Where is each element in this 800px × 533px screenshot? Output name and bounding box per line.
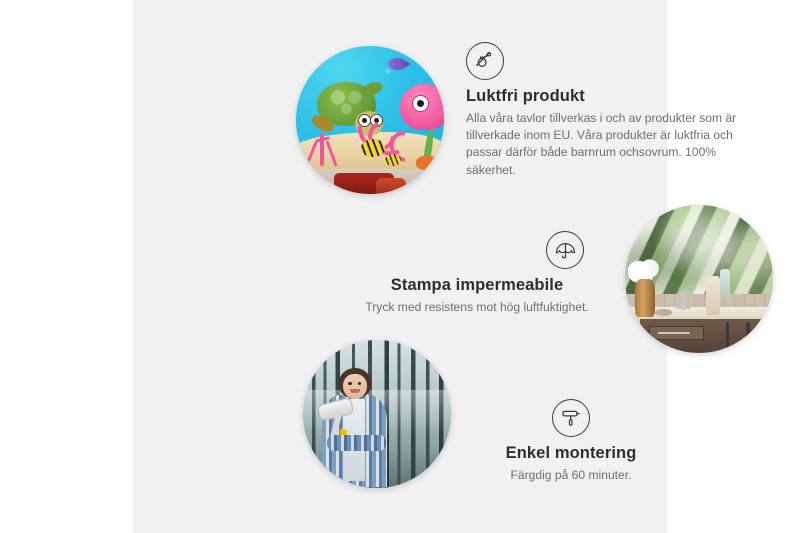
pink-coral [305, 129, 343, 170]
yellow-striped-fish [361, 139, 385, 157]
cabinet-handle [726, 322, 730, 347]
feature-body: Färgdig på 60 minuter. [456, 467, 686, 484]
toiletry-bottle [706, 276, 719, 314]
umbrella-icon [546, 231, 584, 269]
yellow-striped-fish-small [385, 154, 401, 166]
paint-roller-icon [552, 399, 590, 437]
feature-easy-mounting: Enkel montering Färgdig på 60 minuter. [456, 399, 686, 484]
infographic-canvas: Luktfri produkt Alla våra tavlor tillver… [0, 0, 800, 533]
feature-odorless: Luktfri produkt Alla våra tavlor tillver… [466, 42, 758, 179]
gold-vase [635, 279, 654, 317]
crossed-arms [327, 435, 386, 451]
face [343, 374, 367, 399]
faucet [681, 291, 685, 310]
feature-title: Enkel montering [456, 444, 686, 463]
no-perfume-icon [466, 42, 504, 80]
feature-body: Tryck med resistens mot hög luftfuktighe… [346, 299, 608, 316]
photo-bathroom-leaf-wallpaper [625, 205, 773, 353]
feature-title: Luktfri produkt [466, 87, 758, 106]
toiletry-bottle [720, 269, 730, 299]
soap-dish [655, 309, 673, 316]
cabinet-handle [746, 322, 750, 347]
purple-fish [388, 58, 407, 70]
photo-underwater-kids-mural [296, 46, 444, 194]
painter-scene [303, 340, 451, 488]
starfish [416, 156, 438, 171]
bathroom-scene [625, 205, 773, 353]
feature-title: Stampa impermeabile [346, 276, 608, 295]
eye-right [358, 382, 362, 385]
photo-painter-woman-forest [303, 340, 451, 488]
eye-left [348, 382, 352, 385]
octopus-eye [412, 95, 429, 112]
underwater-scene [296, 46, 444, 194]
feature-body: Alla våra tavlor tillverkas i och av pro… [466, 110, 758, 179]
red-cushion [376, 178, 406, 194]
content-panel: Luktfri produkt Alla våra tavlor tillver… [133, 0, 667, 533]
feature-waterproof: Stampa impermeabile Tryck med resistens … [346, 231, 608, 316]
